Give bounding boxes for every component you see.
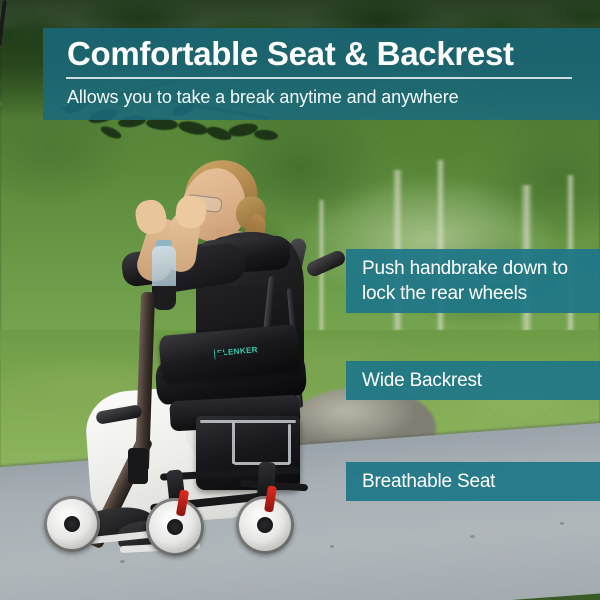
marketing-image: ELENKER Comfortable (0, 0, 600, 600)
brand-mark-icon (214, 348, 216, 359)
callout-seat: Breathable Seat (346, 462, 600, 501)
wheel-hub (64, 516, 80, 532)
page-subtitle: Allows you to take a break anytime and a… (67, 84, 597, 110)
bag-reflective-strip (288, 424, 291, 464)
callout-handbrake-label: Push handbrake down to lock the rear whe… (362, 256, 568, 306)
path-speck (330, 545, 334, 548)
title-divider (66, 77, 572, 79)
rollator-bracket (128, 448, 148, 484)
rollator-storage-bag (196, 416, 300, 490)
header-banner: Comfortable Seat & Backrest Allows you t… (43, 28, 600, 120)
callout-backrest: Wide Backrest (346, 361, 600, 400)
wheel-hub (167, 519, 183, 535)
bottle-holder (152, 286, 176, 310)
path-speck (470, 535, 475, 538)
bag-reflective-strip (232, 422, 235, 464)
page-title: Comfortable Seat & Backrest (67, 34, 597, 74)
callout-backrest-label: Wide Backrest (362, 368, 482, 393)
wheel-hub (257, 517, 273, 533)
bag-reflective-strip (200, 420, 296, 423)
path-speck (560, 522, 564, 525)
callout-seat-label: Breathable Seat (362, 469, 495, 494)
callout-handbrake: Push handbrake down to lock the rear whe… (346, 249, 600, 313)
path-speck (120, 560, 125, 563)
